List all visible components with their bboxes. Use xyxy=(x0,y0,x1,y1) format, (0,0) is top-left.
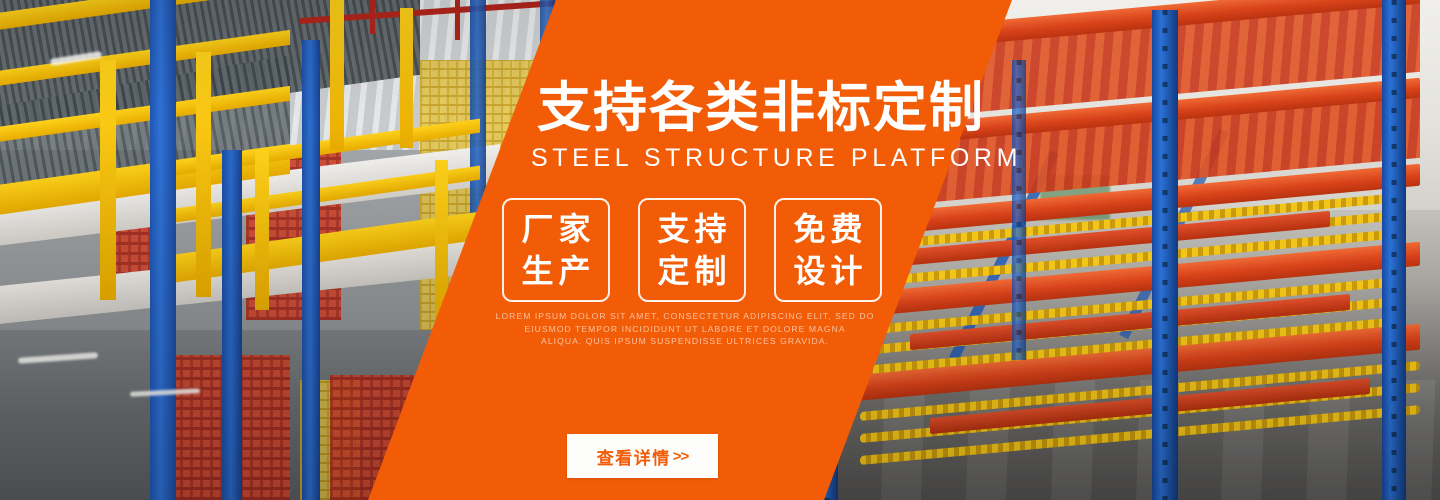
description-line-3: ALIQUA. QUIS IPSUM SUSPENDISSE ULTRICES … xyxy=(455,335,915,348)
badge-line-2: 生产 xyxy=(516,251,595,291)
badge-line-2: 定制 xyxy=(652,251,731,291)
view-details-button[interactable]: 查看详情 >> xyxy=(567,434,718,478)
badge-line-2: 设计 xyxy=(788,251,867,291)
feature-badge-manufacturer: 厂家 生产 xyxy=(502,198,610,302)
banner-description: LOREM IPSUM DOLOR SIT AMET, CONSECTETUR … xyxy=(455,310,915,348)
description-line-1: LOREM IPSUM DOLOR SIT AMET, CONSECTETUR … xyxy=(455,310,915,323)
badge-line-1: 厂家 xyxy=(516,209,595,249)
feature-badge-customization: 支持 定制 xyxy=(638,198,746,302)
promo-banner: 支持各类非标定制 STEEL STRUCTURE PLATFORM 厂家 生产 … xyxy=(0,0,1440,500)
banner-subtitle: STEEL STRUCTURE PLATFORM xyxy=(531,144,1022,172)
feature-badge-free-design: 免费 设计 xyxy=(774,198,882,302)
banner-content: 支持各类非标定制 STEEL STRUCTURE PLATFORM 厂家 生产 … xyxy=(0,0,1440,500)
chevron-right-icon: >> xyxy=(673,448,689,465)
badge-line-1: 免费 xyxy=(788,209,867,249)
badge-line-1: 支持 xyxy=(652,209,731,249)
view-details-label: 查看详情 xyxy=(597,444,671,469)
description-line-2: EIUSMOD TEMPOR INCIDIDUNT UT LABORE ET D… xyxy=(455,323,915,336)
banner-headline: 支持各类非标定制 xyxy=(537,78,985,138)
feature-badge-group: 厂家 生产 支持 定制 免费 设计 xyxy=(502,198,882,302)
